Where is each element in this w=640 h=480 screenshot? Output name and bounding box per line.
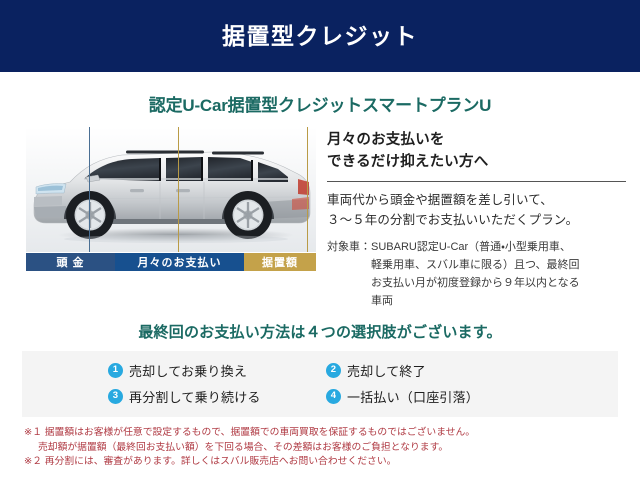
- option-item-3[interactable]: 3 再分割して乗り続ける: [108, 387, 326, 406]
- option-number-badge-4: 4: [326, 389, 341, 404]
- segment-residual-value: 据置額: [244, 253, 316, 271]
- option-item-4[interactable]: 4 一括払い（口座引落）: [326, 387, 618, 406]
- eligible-vehicles-line-2: 軽乗用車、スバル車に限る）且つ、最終回: [371, 257, 580, 275]
- footnote-2: ※２ 再分割には、審査があります。詳しくはスバル販売店へお問い合わせください。: [24, 455, 640, 470]
- option-item-2[interactable]: 2 売却して終了: [326, 361, 618, 380]
- car-illustration-svg: [26, 127, 316, 252]
- footnote-1-line-2: 売却額が据置額（最終回お支払い額）を下回る場合、その差額はお客様のご負担となりま…: [24, 441, 640, 456]
- description-heading-line-2: できるだけ抑えたい方へ: [327, 151, 626, 173]
- payment-segment-bar: 頭 金 月々のお支払い 据置額: [26, 253, 316, 271]
- final-payment-options-panel: 1 売却してお乗り換え 2 売却して終了 3 再分割して乗り続ける 4 一括払い…: [22, 351, 618, 417]
- option-number-badge-1: 1: [108, 363, 123, 378]
- option-label-3: 再分割して乗り続ける: [129, 387, 261, 406]
- plan-subtitle: 認定U-Car据置型クレジットスマートプランU: [0, 91, 640, 116]
- plan-description: 月々のお支払いを できるだけ抑えたい方へ 車両代から頭金や据置額を差し引いて、 …: [316, 127, 626, 311]
- description-body: 車両代から頭金や据置額を差し引いて、 ３～５年の分割でお支払いいただくプラン。: [327, 190, 626, 231]
- split-line-residual: [307, 127, 308, 252]
- footnotes: ※１ 据置額はお客様が任意で設定するもので、据置額での車両買取を保証するものでは…: [24, 426, 640, 471]
- split-line-monthly: [178, 127, 179, 252]
- page-header: 据置型クレジット: [0, 0, 640, 72]
- segment-down-payment: 頭 金: [26, 253, 115, 271]
- eligible-vehicles-value: SUBARU認定U-Car（普通・小型乗用車、 軽乗用車、スバル車に限る）且つ、…: [371, 239, 580, 310]
- option-item-1[interactable]: 1 売却してお乗り換え: [108, 361, 326, 380]
- car-photo: [26, 127, 316, 252]
- description-body-line-2: ３～５年の分割でお支払いいただくプラン。: [327, 210, 626, 230]
- eligible-vehicles-line-3: お支払い月が初度登録から９年以内となる: [371, 275, 580, 293]
- description-heading-line-1: 月々のお支払いを: [327, 129, 626, 151]
- footnote-1-line-1: ※１ 据置額はお客様が任意で設定するもので、据置額での車両買取を保証するものでは…: [24, 426, 640, 441]
- description-body-line-1: 車両代から頭金や据置額を差し引いて、: [327, 190, 626, 210]
- split-line-downpayment: [89, 127, 90, 252]
- final-payment-heading: 最終回のお支払い方法は４つの選択肢がございます。: [0, 321, 640, 342]
- option-label-2: 売却して終了: [347, 361, 426, 380]
- description-divider: [327, 181, 626, 182]
- option-number-badge-3: 3: [108, 389, 123, 404]
- option-number-badge-2: 2: [326, 363, 341, 378]
- option-label-4: 一括払い（口座引落）: [347, 387, 479, 406]
- options-grid: 1 売却してお乗り換え 2 売却して終了 3 再分割して乗り続ける 4 一括払い…: [22, 361, 618, 406]
- eligible-vehicles: 対象車： SUBARU認定U-Car（普通・小型乗用車、 軽乗用車、スバル車に限…: [327, 239, 626, 310]
- main-content-row: 頭 金 月々のお支払い 据置額 月々のお支払いを できるだけ抑えたい方へ 車両代…: [0, 127, 640, 311]
- segment-monthly-payment: 月々のお支払い: [115, 253, 244, 271]
- option-label-1: 売却してお乗り換え: [129, 361, 247, 380]
- description-heading: 月々のお支払いを できるだけ抑えたい方へ: [327, 129, 626, 174]
- page-title: 据置型クレジット: [222, 25, 418, 48]
- eligible-vehicles-line-4: 車両: [371, 293, 580, 311]
- eligible-vehicles-line-1: SUBARU認定U-Car（普通・小型乗用車、: [371, 239, 580, 257]
- payment-breakdown-figure: 頭 金 月々のお支払い 据置額: [26, 127, 316, 311]
- eligible-vehicles-label: 対象車：: [327, 239, 371, 310]
